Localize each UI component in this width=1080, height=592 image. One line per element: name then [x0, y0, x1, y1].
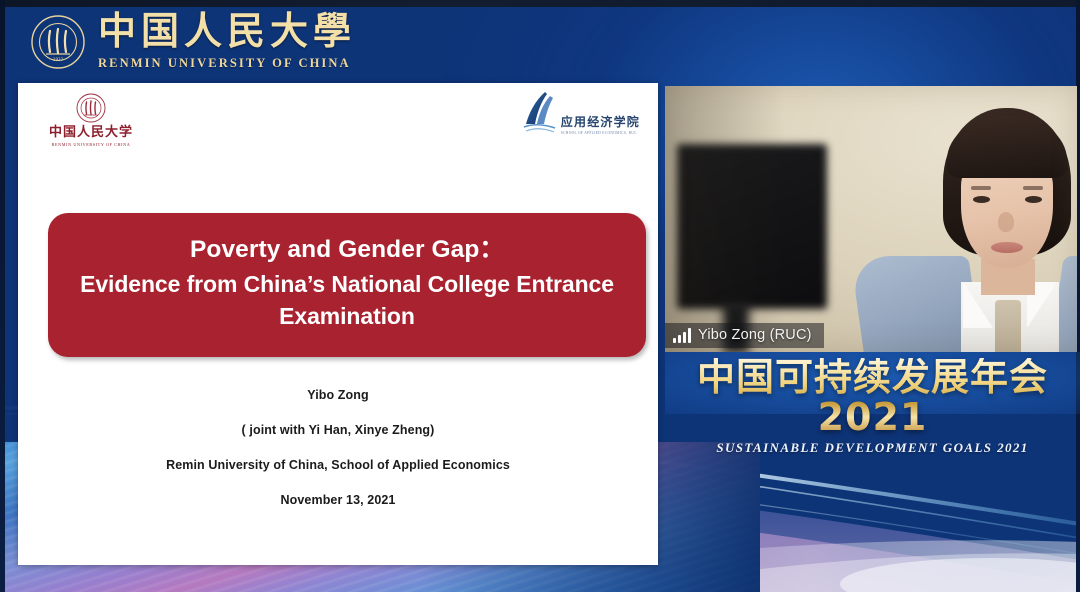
slide-title-banner: Poverty and Gender Gap： Evidence from Ch… — [48, 213, 646, 357]
conference-branding: 中国可持续发展年会2021 SUSTAINABLE DEVELOPMENT GO… — [665, 358, 1080, 456]
webinar-screen: 1937 中国人民大學 RENMIN UNIVERSITY OF CHINA 中… — [0, 0, 1080, 592]
slide-logo-applied-economics: 应用经济学院 SCHOOL OF APPLIED ECONOMICS, RUC — [523, 91, 640, 135]
presentation-slide[interactable]: 中国人民大学 RENMIN UNIVERSITY OF CHINA — [18, 83, 658, 565]
university-name-cn: 中国人民大學 — [98, 12, 356, 50]
conference-title-en: SUSTAINABLE DEVELOPMENT GOALS 2021 — [665, 440, 1080, 456]
slide-logo-ruc-en: RENMIN UNIVERSITY OF CHINA — [46, 142, 136, 147]
participant-name-badge: Yibo Zong (RUC) — [665, 323, 824, 348]
slide-logo-aes-en: SCHOOL OF APPLIED ECONOMICS, RUC — [561, 131, 640, 135]
participant-video-tile[interactable]: Yibo Zong (RUC) — [665, 86, 1077, 352]
slide-author-name: Yibo Zong — [18, 388, 658, 402]
ruc-seal-icon — [76, 93, 106, 123]
svg-text:1937: 1937 — [53, 57, 64, 62]
slide-date: November 13, 2021 — [18, 493, 658, 507]
sail-icon — [523, 91, 557, 135]
slide-logo-ruc: 中国人民大学 RENMIN UNIVERSITY OF CHINA — [46, 93, 136, 147]
slide-title-line-2: Evidence from China’s National College E… — [54, 268, 640, 333]
slide-author-block: Yibo Zong ( joint with Yi Han, Xinye Zhe… — [18, 388, 658, 507]
slide-logo-aes-cn: 应用经济学院 — [561, 116, 640, 128]
university-name-en: RENMIN UNIVERSITY OF CHINA — [98, 56, 356, 71]
signal-bars-icon — [673, 328, 691, 343]
left-bezel — [0, 0, 5, 592]
slide-title-line-1: Poverty and Gender Gap： — [54, 233, 640, 268]
video-vignette — [665, 86, 1077, 352]
university-header: 1937 中国人民大學 RENMIN UNIVERSITY OF CHINA — [30, 12, 356, 71]
top-bezel — [0, 0, 1080, 7]
slide-logo-ruc-cn: 中国人民大学 — [46, 126, 136, 139]
slide-affiliation: Remin University of China, School of App… — [18, 458, 658, 472]
ruc-seal-icon: 1937 — [30, 14, 86, 70]
conference-title-cn: 中国可持续发展年会2021 — [665, 358, 1080, 438]
slide-coauthors: ( joint with Yi Han, Xinye Zheng) — [18, 423, 658, 437]
participant-name-label: Yibo Zong (RUC) — [698, 327, 812, 343]
